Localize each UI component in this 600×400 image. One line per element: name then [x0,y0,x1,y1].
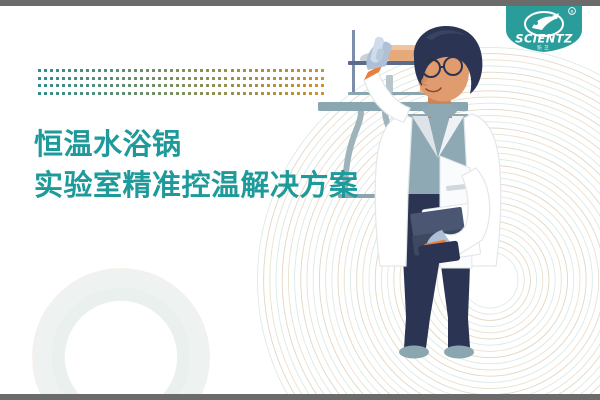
dot [212,77,215,80]
dot [206,69,209,72]
dot [44,84,47,87]
dot-grid-decoration [38,69,324,95]
dot [128,84,131,87]
dot [176,69,179,72]
dot [116,69,119,72]
dot [122,69,125,72]
dot [74,77,77,80]
dot [224,77,227,80]
dot [291,77,294,80]
dot [86,77,89,80]
dot [194,69,197,72]
dot [170,84,173,87]
headline-line-2: 实验室精准控温解决方案 [34,165,359,206]
dot [206,84,209,87]
scientz-logo[interactable]: R SCIENTZ 新芝 [502,4,586,52]
dot [86,69,89,72]
dot [68,84,71,87]
viewer-top-bar [0,0,600,6]
dot [122,92,125,95]
dot [224,69,227,72]
dot [134,77,137,80]
dot [56,77,59,80]
dot [38,69,41,72]
dot [56,69,59,72]
dot [38,84,41,87]
dot [273,77,276,80]
dot [291,69,294,72]
dot [104,77,107,80]
dot [176,77,179,80]
dot [110,92,113,95]
dot [243,69,246,72]
dot [212,84,215,87]
dot [170,77,173,80]
headline-line-1: 恒温水浴锅 [34,127,182,161]
dot [218,92,221,95]
dot [50,77,53,80]
dot [243,92,246,95]
dot [116,77,119,80]
dot [188,84,191,87]
dot [56,92,59,95]
dot [176,84,179,87]
dot [98,92,101,95]
dot [243,84,246,87]
dot [44,69,47,72]
dot [273,92,276,95]
dot [164,84,167,87]
dot [279,92,282,95]
dot [92,84,95,87]
dot [279,77,282,80]
dot [98,84,101,87]
dot [255,84,258,87]
dot [200,84,203,87]
dot [164,69,167,72]
dot [231,84,234,87]
dot [146,69,149,72]
dot [122,84,125,87]
lab-scientist-illustration [300,18,600,400]
dot [273,84,276,87]
dot [152,84,155,87]
dot [140,77,143,80]
banner-stage: 恒温水浴锅 实验室精准控温解决方案 [0,0,600,400]
dot [224,84,227,87]
dot [62,92,65,95]
dot [212,92,215,95]
dot [182,77,185,80]
dot [261,84,264,87]
dot [237,84,240,87]
dot [50,92,53,95]
dot [116,84,119,87]
dot [80,92,83,95]
dot [249,92,252,95]
dot [231,69,234,72]
dot [110,84,113,87]
logo-chinese-name: 新芝 [537,45,551,52]
dot [267,77,270,80]
dot [273,69,276,72]
dot [255,69,258,72]
dot [86,92,89,95]
dot [267,84,270,87]
page-title: 恒温水浴锅 实验室精准控温解决方案 [34,124,359,206]
dot [279,84,282,87]
dot [188,92,191,95]
dot [98,77,101,80]
dot [128,92,131,95]
dot [140,69,143,72]
dot [56,84,59,87]
dot [237,77,240,80]
dot [182,92,185,95]
scientist-character [364,26,501,359]
dot [194,84,197,87]
dot [212,69,215,72]
dot [194,77,197,80]
dot [188,77,191,80]
dot [164,92,167,95]
dot [74,69,77,72]
dot [255,92,258,95]
dot [218,69,221,72]
dot [206,92,209,95]
dot [237,69,240,72]
dot-grid-row [38,77,324,80]
dot [285,69,288,72]
dot [231,77,234,80]
dot [249,69,252,72]
dot [158,84,161,87]
dot [86,84,89,87]
dot [237,92,240,95]
dot [170,92,173,95]
dot [146,77,149,80]
dot [134,69,137,72]
dot [50,69,53,72]
dot [50,84,53,87]
dot [224,92,227,95]
dot [104,92,107,95]
dot [200,77,203,80]
dot [200,69,203,72]
dot [188,69,191,72]
dot [206,77,209,80]
dot [44,92,47,95]
dot [243,77,246,80]
dot [279,69,282,72]
dot [152,69,155,72]
dot [261,77,264,80]
dot [104,69,107,72]
dot [194,92,197,95]
dot-grid-row [38,69,324,72]
dot [122,77,125,80]
dot [182,69,185,72]
dot [267,69,270,72]
dot [128,69,131,72]
dot [68,92,71,95]
dot [231,92,234,95]
dot [74,84,77,87]
dot [146,92,149,95]
dot [80,84,83,87]
dot [249,84,252,87]
dot [164,77,167,80]
dot [176,92,179,95]
dot [249,77,252,80]
dot [261,69,264,72]
dot [62,69,65,72]
dot [62,77,65,80]
dot-grid-row [38,84,324,87]
dot [128,77,131,80]
dot [255,77,258,80]
dot [68,77,71,80]
dot [62,84,65,87]
viewer-bottom-bar [0,394,600,400]
dot [38,77,41,80]
svg-text:R: R [570,9,573,15]
dot [98,69,101,72]
dot-grid-row [38,92,324,95]
dot [116,92,119,95]
dot [134,84,137,87]
dot [200,92,203,95]
dot [285,84,288,87]
dot [92,92,95,95]
dot [291,84,294,87]
dot [110,77,113,80]
dot [291,92,294,95]
dot [92,69,95,72]
dot [140,84,143,87]
dot [38,92,41,95]
dot [158,77,161,80]
dot [146,84,149,87]
dot [110,69,113,72]
logo-wordmark: SCIENTZ [515,32,573,46]
dot [267,92,270,95]
dot [170,69,173,72]
dot [182,84,185,87]
dot [285,92,288,95]
dot [74,92,77,95]
dot [92,77,95,80]
dot [261,92,264,95]
dot [218,84,221,87]
dot [152,92,155,95]
dot [158,69,161,72]
dot [104,84,107,87]
dot [80,77,83,80]
dot [140,92,143,95]
dot [134,92,137,95]
dot [80,69,83,72]
dot [285,77,288,80]
dot [68,69,71,72]
decorative-ring-hole [32,268,210,400]
dot [218,77,221,80]
dot [158,92,161,95]
dot [44,77,47,80]
dot [152,77,155,80]
